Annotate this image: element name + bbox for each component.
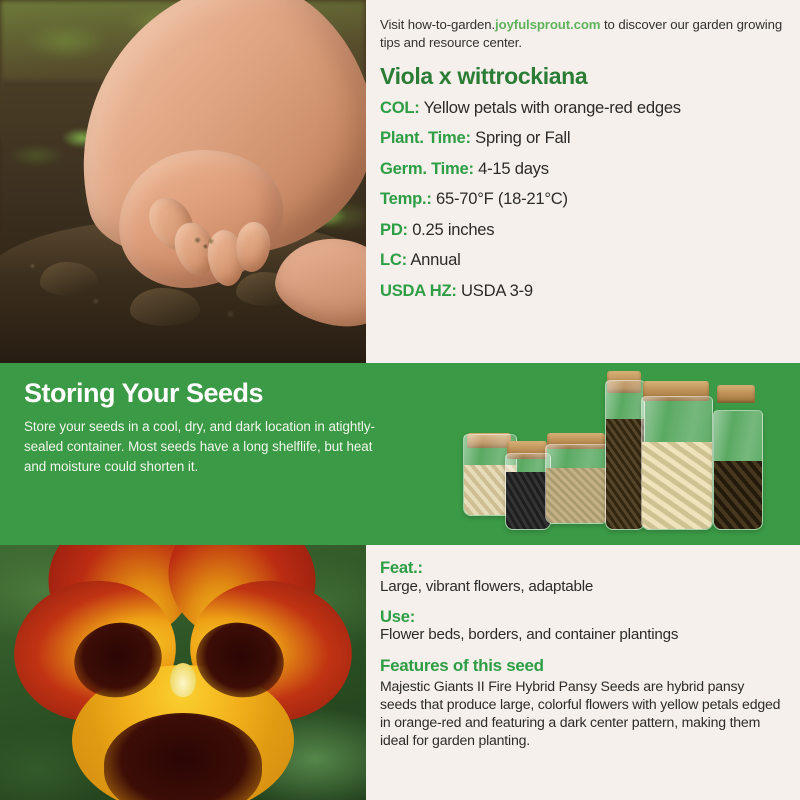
soil-clod bbox=[40, 262, 98, 296]
details-panel: Feat.: Large, vibrant flowers, adaptable… bbox=[366, 545, 800, 800]
spec-value-germ-time: 4-15 days bbox=[478, 159, 549, 178]
detail-label-feat: Feat.: bbox=[380, 559, 784, 578]
flower-center-eye bbox=[170, 663, 196, 697]
detail-label-use: Use: bbox=[380, 608, 784, 627]
spec-label-pd: PD: bbox=[380, 220, 408, 239]
seed-packet-infographic: Visit how-to-garden.joyfulsprout.com to … bbox=[0, 0, 800, 800]
top-section: Visit how-to-garden.joyfulsprout.com to … bbox=[0, 0, 800, 363]
spec-row-lc: LC: Annual bbox=[380, 252, 786, 269]
species-title: Viola x wittrockiana bbox=[380, 64, 786, 88]
spec-value-col: Yellow petals with orange-red edges bbox=[424, 98, 681, 117]
spec-value-plant-time: Spring or Fall bbox=[475, 128, 570, 147]
visit-website-line: Visit how-to-garden.joyfulsprout.com to … bbox=[380, 16, 786, 51]
bottom-section: Feat.: Large, vibrant flowers, adaptable… bbox=[0, 545, 800, 800]
storage-title: Storing Your Seeds bbox=[24, 379, 384, 407]
spec-row-usda-hz: USDA HZ: USDA 3-9 bbox=[380, 283, 786, 300]
specifications-panel: Visit how-to-garden.joyfulsprout.com to … bbox=[366, 0, 800, 363]
jar-sunflower-seeds bbox=[713, 410, 763, 530]
spec-value-lc: Annual bbox=[410, 250, 460, 269]
jar-contents bbox=[546, 468, 608, 523]
spec-value-usda-hz: USDA 3-9 bbox=[461, 281, 533, 300]
jar-cork bbox=[717, 385, 755, 403]
features-title: Features of this seed bbox=[380, 656, 784, 676]
spec-value-temp: 65-70°F (18-21°C) bbox=[436, 189, 568, 208]
spec-row-plant-time: Plant. Time: Spring or Fall bbox=[380, 130, 786, 147]
storing-your-seeds-band: Storing Your Seeds Store your seeds in a… bbox=[0, 363, 800, 545]
spec-label-plant-time: Plant. Time: bbox=[380, 128, 471, 147]
spec-label-germ-time: Germ. Time: bbox=[380, 159, 474, 178]
spec-label-lc: LC: bbox=[380, 250, 407, 269]
jar-pumpkin-seeds bbox=[641, 396, 713, 530]
hands-sowing-seeds-photo bbox=[0, 0, 366, 363]
jar-contents bbox=[714, 461, 762, 529]
spec-value-pd: 0.25 inches bbox=[412, 220, 494, 239]
brand-domain-link[interactable]: joyfulsprout.com bbox=[495, 17, 600, 32]
spec-label-temp: Temp.: bbox=[380, 189, 432, 208]
jar-contents bbox=[606, 419, 644, 529]
seed-storage-jars-image bbox=[455, 373, 785, 538]
spec-row-germ-time: Germ. Time: 4-15 days bbox=[380, 161, 786, 178]
jar-tan-grain bbox=[545, 444, 609, 524]
spec-row-pd: PD: 0.25 inches bbox=[380, 222, 786, 239]
visit-prefix-text: Visit how-to-garden. bbox=[380, 17, 495, 32]
detail-value-use: Flower beds, borders, and container plan… bbox=[380, 626, 784, 644]
spec-row-temp: Temp.: 65-70°F (18-21°C) bbox=[380, 191, 786, 208]
spec-row-col: COL: Yellow petals with orange-red edges bbox=[380, 100, 786, 117]
storage-text-block: Storing Your Seeds Store your seeds in a… bbox=[24, 379, 384, 477]
detail-value-feat: Large, vibrant flowers, adaptable bbox=[380, 578, 784, 596]
jar-contents bbox=[506, 472, 550, 529]
features-body-text: Majestic Giants II Fire Hybrid Pansy See… bbox=[380, 677, 784, 749]
storage-body-text: Store your seeds in a cool, dry, and dar… bbox=[24, 417, 384, 476]
spec-label-col: COL: bbox=[380, 98, 420, 117]
jar-dark-small-seeds bbox=[605, 380, 645, 530]
jar-contents bbox=[642, 442, 712, 529]
spec-label-usda-hz: USDA HZ: bbox=[380, 281, 457, 300]
pansy-flower-photo bbox=[0, 545, 366, 800]
